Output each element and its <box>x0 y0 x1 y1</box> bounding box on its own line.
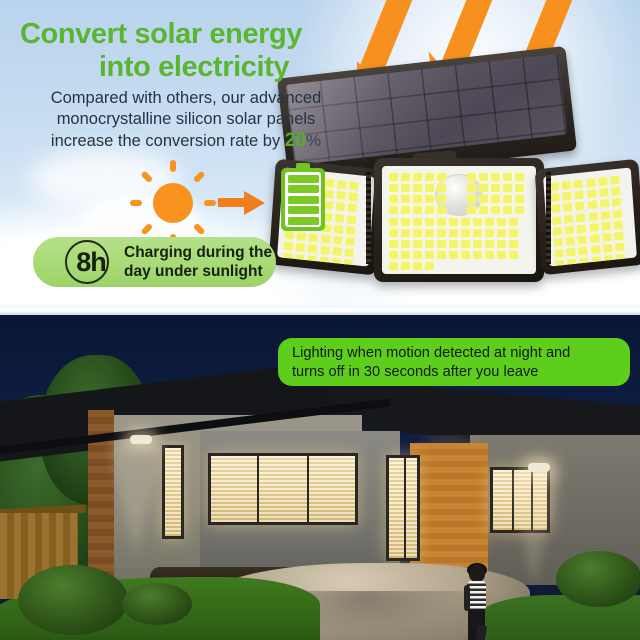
led <box>389 195 398 203</box>
led <box>467 173 476 181</box>
led-head-center <box>374 158 544 282</box>
led <box>587 189 597 198</box>
led <box>574 180 584 189</box>
led <box>389 218 398 226</box>
led <box>479 173 488 181</box>
product-infographic: Convert solar energy into electricity Co… <box>0 0 640 640</box>
led <box>413 173 422 181</box>
led <box>332 247 342 256</box>
wall-mounted-light <box>130 435 152 444</box>
led <box>294 265 304 266</box>
led <box>554 249 564 258</box>
led <box>473 229 482 237</box>
led <box>576 213 586 222</box>
subcopy-line-3: increase the conversion rate by 20% <box>16 130 356 152</box>
led <box>479 184 488 192</box>
led <box>491 195 500 203</box>
led <box>615 243 625 252</box>
led <box>614 232 624 241</box>
led <box>491 173 500 181</box>
led <box>485 251 494 259</box>
led <box>413 206 422 214</box>
window-blinds <box>211 456 355 522</box>
vent-left <box>366 172 371 264</box>
led <box>591 245 601 254</box>
led <box>295 254 305 263</box>
led <box>497 240 506 248</box>
led <box>307 256 317 265</box>
led <box>413 251 422 259</box>
led <box>562 192 572 201</box>
badge-line-2: day under sunlight <box>124 262 272 281</box>
page-title: Convert solar energy into electricity <box>20 18 360 84</box>
led <box>437 229 446 237</box>
led <box>610 176 620 185</box>
percent-symbol: % <box>306 131 321 150</box>
led <box>579 258 589 267</box>
led <box>308 244 318 253</box>
led <box>503 206 512 214</box>
led <box>437 206 446 214</box>
led <box>321 235 331 244</box>
led <box>509 240 518 248</box>
led <box>413 195 422 203</box>
led <box>600 211 610 220</box>
led <box>575 191 585 200</box>
led <box>515 173 524 181</box>
led <box>479 206 488 214</box>
headline-line-2: into electricity <box>20 51 360 84</box>
led <box>425 206 434 214</box>
led <box>389 173 398 181</box>
led <box>551 204 561 213</box>
led <box>555 260 565 266</box>
led <box>401 251 410 259</box>
led <box>425 240 434 248</box>
led <box>325 179 335 188</box>
led-block-bottom <box>389 218 529 270</box>
led <box>401 262 410 270</box>
led <box>515 206 524 214</box>
led <box>587 201 597 210</box>
led <box>613 209 623 218</box>
led <box>284 231 294 240</box>
right-arrow-icon <box>218 190 266 216</box>
battery-segment <box>288 196 319 204</box>
led <box>437 173 446 181</box>
window-blinds <box>389 458 417 558</box>
sun-ray <box>130 200 142 206</box>
led <box>509 229 518 237</box>
panel-divider <box>0 305 640 315</box>
top-panel-solar-charging: Convert solar energy into electricity Co… <box>0 0 640 313</box>
led <box>599 188 609 197</box>
window-mullion <box>257 456 259 522</box>
led-grid-right <box>543 168 637 267</box>
shrub <box>122 583 192 625</box>
led <box>467 184 476 192</box>
led <box>497 251 506 259</box>
led <box>425 195 434 203</box>
led <box>401 206 410 214</box>
led <box>324 190 334 199</box>
led <box>345 237 355 246</box>
led <box>473 251 482 259</box>
led <box>485 229 494 237</box>
led <box>401 240 410 248</box>
walking-person <box>460 565 494 640</box>
led <box>562 181 572 190</box>
window-mullion <box>307 456 309 522</box>
led <box>602 233 612 242</box>
led <box>479 195 488 203</box>
living-room-window <box>208 453 358 525</box>
led <box>553 227 563 236</box>
led <box>425 218 434 226</box>
door-sidelight-window <box>386 455 420 561</box>
led <box>296 243 306 252</box>
led <box>348 192 358 201</box>
battery-segment <box>288 217 319 225</box>
sun-icon <box>130 160 216 246</box>
shrub <box>18 565 128 635</box>
led <box>425 184 434 192</box>
led <box>604 255 614 264</box>
led <box>467 195 476 203</box>
callout-line-2: turns off in 30 seconds after you leave <box>292 363 616 382</box>
led <box>284 242 294 251</box>
led <box>401 218 410 226</box>
led <box>589 223 599 232</box>
badge-line-1: Charging during the <box>124 243 272 262</box>
led <box>283 253 293 262</box>
light-cone <box>108 443 164 558</box>
led <box>347 215 357 224</box>
led <box>467 206 476 214</box>
led <box>461 251 470 259</box>
light-cone <box>506 471 562 586</box>
led <box>413 184 422 192</box>
led <box>335 202 345 211</box>
led <box>334 225 344 234</box>
motion-detection-callout: Lighting when motion detected at night a… <box>278 338 630 386</box>
subcopy: Compared with others, our advanced monoc… <box>16 88 356 152</box>
led <box>425 251 434 259</box>
conversion-rate-value: 20 <box>285 130 306 151</box>
led <box>389 240 398 248</box>
led <box>578 235 588 244</box>
led <box>612 198 622 207</box>
sun-ray <box>140 223 153 236</box>
led <box>413 240 422 248</box>
subcopy-line-3-prefix: increase the conversion rate by <box>51 132 285 150</box>
led <box>588 212 598 221</box>
led <box>449 240 458 248</box>
led <box>319 257 329 266</box>
led <box>347 204 357 213</box>
led <box>598 177 608 186</box>
led <box>437 218 446 226</box>
led <box>401 184 410 192</box>
sun-ray <box>170 160 176 172</box>
callout-line-1: Lighting when motion detected at night a… <box>292 344 616 363</box>
led <box>413 262 422 270</box>
battery-segment <box>288 175 319 183</box>
led <box>349 181 359 190</box>
led <box>566 248 576 257</box>
charging-badge-copy: Charging during the day under sunlight <box>124 243 272 281</box>
led <box>509 218 518 226</box>
led <box>337 180 347 189</box>
led <box>461 240 470 248</box>
window-blinds <box>165 448 181 536</box>
led <box>389 262 398 270</box>
led <box>282 264 292 267</box>
led <box>491 184 500 192</box>
led <box>425 173 434 181</box>
led <box>601 222 611 231</box>
led <box>564 214 574 223</box>
led <box>485 218 494 226</box>
led <box>613 220 623 229</box>
led <box>389 206 398 214</box>
window-mullion <box>404 458 406 558</box>
subcopy-line-1: Compared with others, our advanced <box>16 88 356 109</box>
led <box>297 232 307 241</box>
led-block-left <box>389 173 451 214</box>
person-arm <box>464 585 470 611</box>
led <box>473 240 482 248</box>
led <box>590 234 600 243</box>
sun-ray <box>140 170 153 183</box>
led <box>449 218 458 226</box>
led <box>401 229 410 237</box>
headline-line-1: Convert solar energy <box>20 18 360 51</box>
led <box>485 240 494 248</box>
led <box>552 216 562 225</box>
led <box>425 262 434 270</box>
tall-window <box>162 445 184 539</box>
battery-cells <box>285 172 321 227</box>
led <box>401 195 410 203</box>
led <box>575 202 585 211</box>
battery-segment <box>288 206 319 214</box>
sun-ray <box>204 200 216 206</box>
sun-core <box>153 183 193 223</box>
led <box>461 229 470 237</box>
led <box>389 229 398 237</box>
led <box>577 224 587 233</box>
led <box>331 258 341 267</box>
led <box>389 184 398 192</box>
wall-mounted-light <box>528 463 550 472</box>
led <box>565 225 575 234</box>
led <box>320 246 330 255</box>
charging-time-badge: 8h Charging during the day under sunligh… <box>33 237 276 287</box>
led-block-right <box>467 173 529 214</box>
sun-ray <box>193 223 206 236</box>
led <box>473 218 482 226</box>
led <box>343 259 353 266</box>
led <box>578 247 588 256</box>
led <box>515 195 524 203</box>
led <box>586 178 596 187</box>
led <box>563 203 573 212</box>
sun-ray <box>193 170 206 183</box>
led <box>449 251 458 259</box>
led <box>616 254 626 263</box>
led <box>503 195 512 203</box>
led <box>413 229 422 237</box>
led <box>497 229 506 237</box>
badge-ring-icon: 8h <box>63 240 117 284</box>
led <box>437 184 446 192</box>
led <box>333 236 343 245</box>
led <box>491 206 500 214</box>
led <box>603 244 613 253</box>
led <box>567 259 577 267</box>
led <box>437 251 446 259</box>
led <box>616 265 626 266</box>
vent-right <box>546 172 551 264</box>
led <box>344 248 354 257</box>
led-grid-center <box>382 166 536 274</box>
led <box>336 191 346 200</box>
led <box>611 187 621 196</box>
charging-hours-value: 8h <box>68 244 114 280</box>
led <box>503 184 512 192</box>
led <box>503 173 512 181</box>
led <box>346 226 356 235</box>
led <box>449 229 458 237</box>
led <box>389 251 398 259</box>
led <box>566 237 576 246</box>
led <box>437 195 446 203</box>
led <box>591 256 601 265</box>
person-head <box>469 565 485 582</box>
battery-full-icon <box>281 163 325 231</box>
led <box>497 218 506 226</box>
led <box>515 184 524 192</box>
led <box>425 229 434 237</box>
battery-body <box>281 168 325 231</box>
led <box>437 240 446 248</box>
led <box>600 199 610 208</box>
subcopy-line-2: monocrystalline silicon solar panels <box>16 109 356 130</box>
led <box>334 213 344 222</box>
shrub <box>556 551 640 607</box>
led <box>309 233 319 242</box>
battery-segment <box>288 185 319 193</box>
led <box>509 251 518 259</box>
led <box>413 218 422 226</box>
led <box>461 218 470 226</box>
led <box>550 193 560 202</box>
led <box>553 238 563 247</box>
led <box>401 173 410 181</box>
